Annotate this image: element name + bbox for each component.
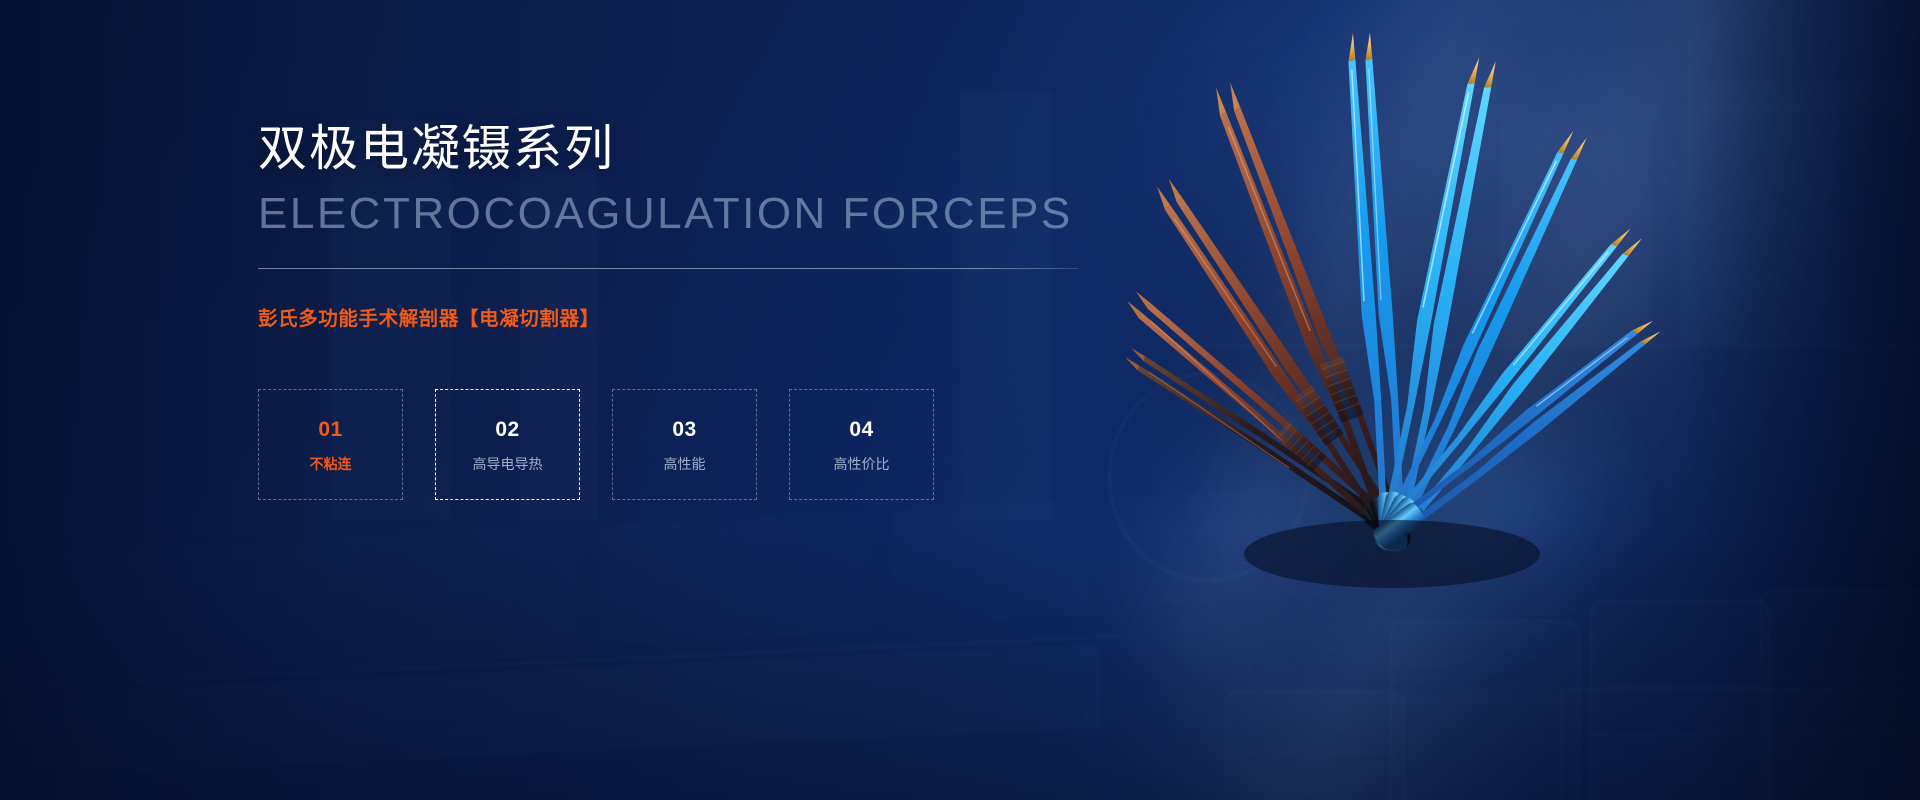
feature-number: 03 xyxy=(672,419,696,440)
page-title-english: ELECTROCOAGULATION FORCEPS xyxy=(258,191,1098,237)
product-subtitle: 彭氏多功能手术解剖器【电凝切割器】 xyxy=(258,302,1098,331)
forceps-product-image xyxy=(1092,60,1652,660)
feature-item-03[interactable]: 03 高性能 xyxy=(612,389,757,500)
feature-label: 高性价比 xyxy=(834,457,890,471)
feature-item-01[interactable]: 01 不粘连 xyxy=(258,389,403,500)
feature-number: 01 xyxy=(318,419,342,440)
page-title-chinese: 双极电凝镊系列 xyxy=(258,122,1098,177)
feature-number: 04 xyxy=(849,419,873,440)
feature-item-04[interactable]: 04 高性价比 xyxy=(789,389,934,500)
feature-number: 02 xyxy=(495,419,519,440)
feature-label: 高导电导热 xyxy=(473,457,543,471)
feature-label: 不粘连 xyxy=(310,457,352,471)
feature-label: 高性能 xyxy=(664,457,706,471)
feature-list: 01 不粘连 02 高导电导热 03 高性能 04 高性价比 xyxy=(258,389,1098,500)
title-divider xyxy=(258,268,1078,269)
banner-content: 双极电凝镊系列 ELECTROCOAGULATION FORCEPS 彭氏多功能… xyxy=(258,122,1098,500)
product-banner: 双极电凝镊系列 ELECTROCOAGULATION FORCEPS 彭氏多功能… xyxy=(0,0,1920,800)
feature-item-02[interactable]: 02 高导电导热 xyxy=(435,389,580,500)
